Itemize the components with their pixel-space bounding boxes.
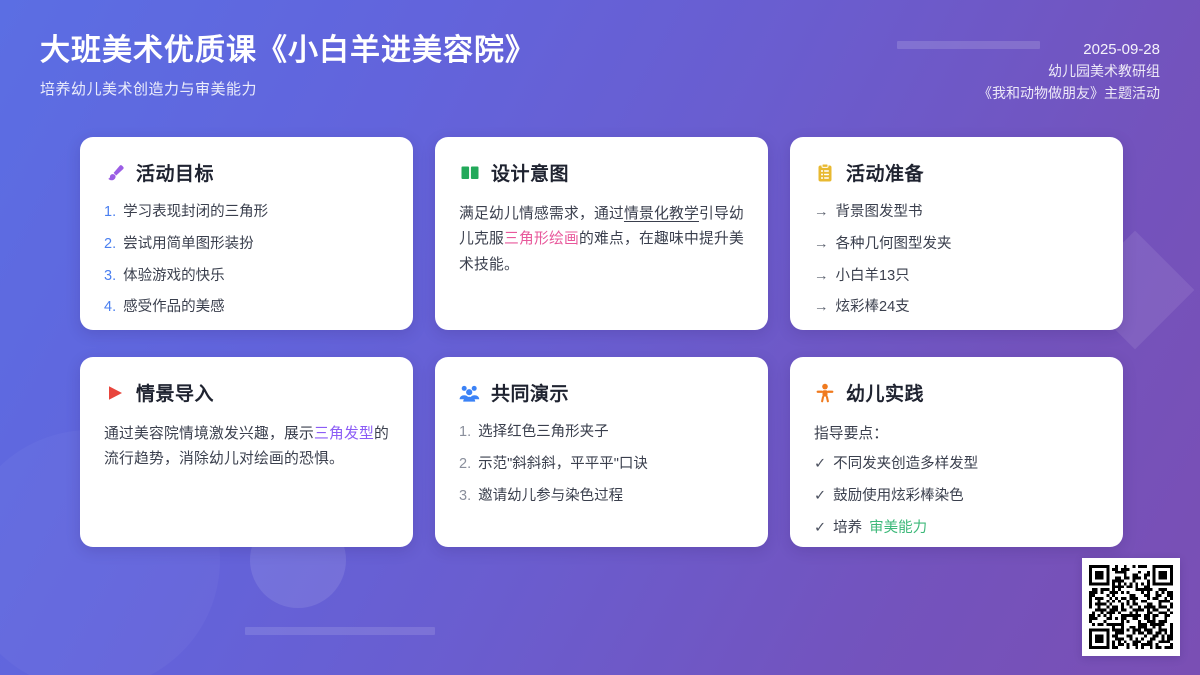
paragraph-segment: 情景化教学 bbox=[624, 206, 699, 222]
card-grid: 活动目标1.学习表现封闭的三角形2.尝试用简单图形装扮3.体验游戏的快乐4.感受… bbox=[80, 137, 1120, 547]
header-theme: 《我和动物做朋友》主题活动 bbox=[978, 83, 1160, 105]
list-item-text: 背景图发型书 bbox=[836, 202, 923, 224]
list-item: 3.体验游戏的快乐 bbox=[104, 266, 389, 288]
list-item-text: 培养 bbox=[833, 518, 862, 540]
list-item-marker: ✓ bbox=[814, 454, 826, 476]
list-item-marker: 2. bbox=[104, 234, 116, 256]
list-item-marker: 1. bbox=[104, 202, 116, 224]
paragraph-segment: 三角形绘画 bbox=[504, 231, 579, 247]
list-item: ✓培养审美能力 bbox=[814, 518, 1099, 540]
header-date: 2025-09-28 bbox=[978, 38, 1160, 61]
list-item: 3.邀请幼儿参与染色过程 bbox=[459, 486, 744, 508]
list-item-marker: ✓ bbox=[814, 486, 826, 508]
list-item-marker: 3. bbox=[459, 486, 471, 508]
paragraph-segment: 通过美容院情境激发兴趣，展示 bbox=[104, 426, 314, 442]
card-joint-demo[interactable]: 共同演示1.选择红色三角形夹子2.示范"斜斜斜，平平平"口诀3.邀请幼儿参与染色… bbox=[435, 357, 768, 547]
list-item-text: 邀请幼儿参与染色过程 bbox=[478, 486, 623, 508]
card-preparation[interactable]: 活动准备→背景图发型书→各种几何图型发夹→小白羊13只→炫彩棒24支 bbox=[790, 137, 1123, 330]
play-triangle-icon bbox=[104, 382, 125, 403]
card-list: →背景图发型书→各种几何图型发夹→小白羊13只→炫彩棒24支 bbox=[814, 202, 1099, 319]
card-header: 情景导入 bbox=[104, 379, 389, 406]
card-header: 活动目标 bbox=[104, 159, 389, 186]
card-title: 活动准备 bbox=[846, 159, 924, 186]
paintbrush-icon bbox=[104, 162, 125, 183]
people-group-icon bbox=[459, 382, 480, 403]
page-subtitle: 培养幼儿美术创造力与审美能力 bbox=[40, 78, 536, 99]
card-list: ✓不同发夹创造多样发型✓鼓励使用炫彩棒染色✓培养审美能力 bbox=[814, 454, 1099, 539]
slide-canvas: 大班美术优质课《小白羊进美容院》 培养幼儿美术创造力与审美能力 2025-09-… bbox=[0, 0, 1200, 675]
slide-header: 大班美术优质课《小白羊进美容院》 培养幼儿美术创造力与审美能力 2025-09-… bbox=[0, 0, 1200, 125]
card-title: 情景导入 bbox=[136, 379, 214, 406]
list-item-marker: 3. bbox=[104, 266, 116, 288]
card-paragraph: 通过美容院情境激发兴趣，展示三角发型的流行趋势，消除幼儿对绘画的恐惧。 bbox=[104, 422, 389, 473]
card-paragraph: 满足幼儿情感需求，通过情景化教学引导幼儿克服三角形绘画的难点，在趣味中提升美术技… bbox=[459, 202, 744, 278]
list-item-text: 感受作品的美感 bbox=[123, 297, 225, 319]
list-item: 1.学习表现封闭的三角形 bbox=[104, 202, 389, 224]
paragraph-segment: 满足幼儿情感需求，通过 bbox=[459, 206, 624, 222]
card-header: 幼儿实践 bbox=[814, 379, 1099, 406]
open-book-icon bbox=[459, 162, 480, 183]
list-item-marker: → bbox=[814, 297, 829, 319]
list-item-marker: 2. bbox=[459, 454, 471, 476]
header-left: 大班美术优质课《小白羊进美容院》 培养幼儿美术创造力与审美能力 bbox=[40, 32, 536, 99]
list-item: ✓不同发夹创造多样发型 bbox=[814, 454, 1099, 476]
list-item: 2.示范"斜斜斜，平平平"口诀 bbox=[459, 454, 744, 476]
list-item: 1.选择红色三角形夹子 bbox=[459, 422, 744, 444]
list-item-marker: → bbox=[814, 202, 829, 224]
card-objectives[interactable]: 活动目标1.学习表现封闭的三角形2.尝试用简单图形装扮3.体验游戏的快乐4.感受… bbox=[80, 137, 413, 330]
list-item: ✓鼓励使用炫彩棒染色 bbox=[814, 486, 1099, 508]
list-item-text: 小白羊13只 bbox=[836, 266, 910, 288]
list-item-text: 示范"斜斜斜，平平平"口诀 bbox=[478, 454, 648, 476]
list-item-marker: ✓ bbox=[814, 518, 826, 540]
list-item-text: 各种几何图型发夹 bbox=[836, 234, 952, 256]
card-header: 活动准备 bbox=[814, 159, 1099, 186]
list-item-highlight: 审美能力 bbox=[869, 518, 927, 540]
list-item-text: 不同发夹创造多样发型 bbox=[833, 454, 978, 476]
list-item: →各种几何图型发夹 bbox=[814, 234, 1099, 256]
list-item-marker: → bbox=[814, 266, 829, 288]
card-title: 设计意图 bbox=[491, 159, 569, 186]
card-title: 幼儿实践 bbox=[846, 379, 924, 406]
qr-code-container[interactable] bbox=[1082, 558, 1180, 656]
list-item: →背景图发型书 bbox=[814, 202, 1099, 224]
card-list: 1.选择红色三角形夹子2.示范"斜斜斜，平平平"口诀3.邀请幼儿参与染色过程 bbox=[459, 422, 744, 507]
qr-code bbox=[1089, 565, 1173, 649]
list-item-marker: 1. bbox=[459, 422, 471, 444]
list-item-text: 学习表现封闭的三角形 bbox=[123, 202, 268, 224]
decor-bar-bottom bbox=[245, 627, 435, 635]
card-header: 共同演示 bbox=[459, 379, 744, 406]
card-header: 设计意图 bbox=[459, 159, 744, 186]
list-item: →小白羊13只 bbox=[814, 266, 1099, 288]
list-item-marker: 4. bbox=[104, 297, 116, 319]
paragraph-segment: 三角发型 bbox=[314, 426, 374, 442]
clipboard-icon bbox=[814, 162, 835, 183]
card-scenario-intro[interactable]: 情景导入通过美容院情境激发兴趣，展示三角发型的流行趋势，消除幼儿对绘画的恐惧。 bbox=[80, 357, 413, 547]
child-person-icon bbox=[814, 382, 835, 403]
card-title: 活动目标 bbox=[136, 159, 214, 186]
card-child-practice[interactable]: 幼儿实践指导要点：✓不同发夹创造多样发型✓鼓励使用炫彩棒染色✓培养审美能力 bbox=[790, 357, 1123, 547]
list-item: →炫彩棒24支 bbox=[814, 297, 1099, 319]
list-item-text: 炫彩棒24支 bbox=[836, 297, 910, 319]
card-design-intent[interactable]: 设计意图满足幼儿情感需求，通过情景化教学引导幼儿克服三角形绘画的难点，在趣味中提… bbox=[435, 137, 768, 330]
header-org: 幼儿园美术教研组 bbox=[978, 61, 1160, 83]
list-item-marker: → bbox=[814, 234, 829, 256]
card-lead-text: 指导要点： bbox=[814, 422, 1099, 443]
list-item-text: 体验游戏的快乐 bbox=[123, 266, 225, 288]
list-item-text: 尝试用简单图形装扮 bbox=[123, 234, 254, 256]
header-meta: 2025-09-28 幼儿园美术教研组 《我和动物做朋友》主题活动 bbox=[978, 38, 1160, 105]
card-list: 1.学习表现封闭的三角形2.尝试用简单图形装扮3.体验游戏的快乐4.感受作品的美… bbox=[104, 202, 389, 319]
page-title: 大班美术优质课《小白羊进美容院》 bbox=[40, 32, 536, 70]
list-item: 2.尝试用简单图形装扮 bbox=[104, 234, 389, 256]
list-item-text: 鼓励使用炫彩棒染色 bbox=[833, 486, 964, 508]
list-item-text: 选择红色三角形夹子 bbox=[478, 422, 609, 444]
card-title: 共同演示 bbox=[491, 379, 569, 406]
list-item: 4.感受作品的美感 bbox=[104, 297, 389, 319]
